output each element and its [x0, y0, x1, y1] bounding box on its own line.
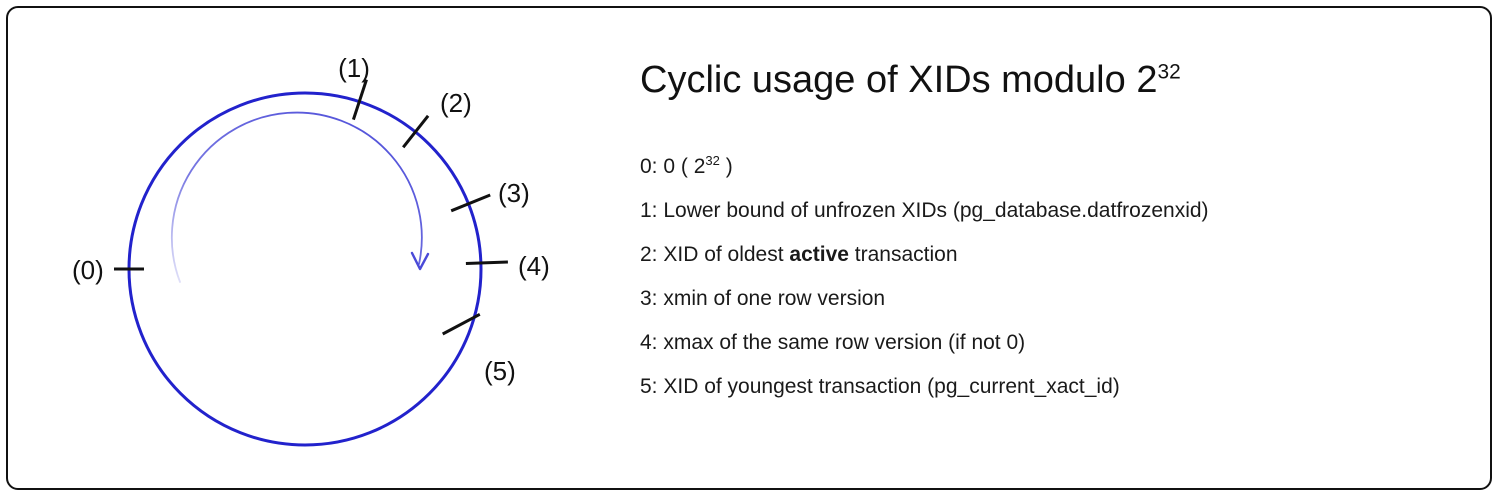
tick-label-1: (1)	[338, 53, 370, 83]
legend-item-1-prefix: 1: Lower bound of unfrozen XIDs (pg_data…	[640, 199, 1209, 222]
tick-label-4: (4)	[518, 251, 550, 281]
tick-mark-2	[403, 116, 428, 148]
legend-item-1: 1: Lower bound of unfrozen XIDs (pg_data…	[640, 200, 1460, 221]
tick-mark-4	[466, 262, 508, 264]
legend-item-0-exponent: 32	[705, 153, 719, 168]
tick-label-2: (2)	[440, 88, 472, 118]
cyclic-xid-diagram: (0) (1) (2) (3) (4) (5)	[40, 30, 610, 480]
figure-title: Cyclic usage of XIDs modulo 232	[640, 60, 1460, 102]
figure-root: (0) (1) (2) (3) (4) (5) Cyclic usage of …	[0, 0, 1504, 502]
circle-diagram-svg: (0) (1) (2) (3) (4) (5)	[40, 30, 610, 480]
legend-item-2-tail: transaction	[849, 243, 958, 266]
legend-item-2-emphasis: active	[789, 243, 849, 266]
figure-title-exponent: 32	[1157, 60, 1180, 83]
xid-space-circle	[129, 93, 481, 445]
legend-item-5-prefix: 5: XID of youngest transaction (pg_curre…	[640, 375, 1120, 398]
legend-item-2: 2: XID of oldest active transaction	[640, 244, 1460, 265]
tick-label-0: (0)	[72, 255, 104, 285]
legend-item-0-prefix: 0: 0 ( 2	[640, 155, 705, 178]
legend-item-5: 5: XID of youngest transaction (pg_curre…	[640, 376, 1460, 397]
tick-mark-5	[443, 314, 480, 334]
legend-item-0-suffix: )	[720, 155, 733, 178]
direction-arrow-arc	[172, 113, 422, 282]
legend-item-0: 0: 0 ( 232 )	[640, 156, 1460, 177]
legend-item-4-prefix: 4: xmax of the same row version (if not …	[640, 331, 1025, 354]
figure-title-main: Cyclic usage of XIDs modulo 2	[640, 59, 1157, 101]
tick-label-3: (3)	[498, 178, 530, 208]
tick-label-5: (5)	[484, 356, 516, 386]
legend-item-3: 3: xmin of one row version	[640, 288, 1460, 309]
text-column: Cyclic usage of XIDs modulo 232 0: 0 ( 2…	[640, 60, 1460, 397]
legend-item-2-prefix: 2: XID of oldest	[640, 243, 789, 266]
legend-item-4: 4: xmax of the same row version (if not …	[640, 332, 1460, 353]
legend-list: 0: 0 ( 232 ) 1: Lower bound of unfrozen …	[640, 156, 1460, 397]
legend-item-3-prefix: 3: xmin of one row version	[640, 287, 885, 310]
